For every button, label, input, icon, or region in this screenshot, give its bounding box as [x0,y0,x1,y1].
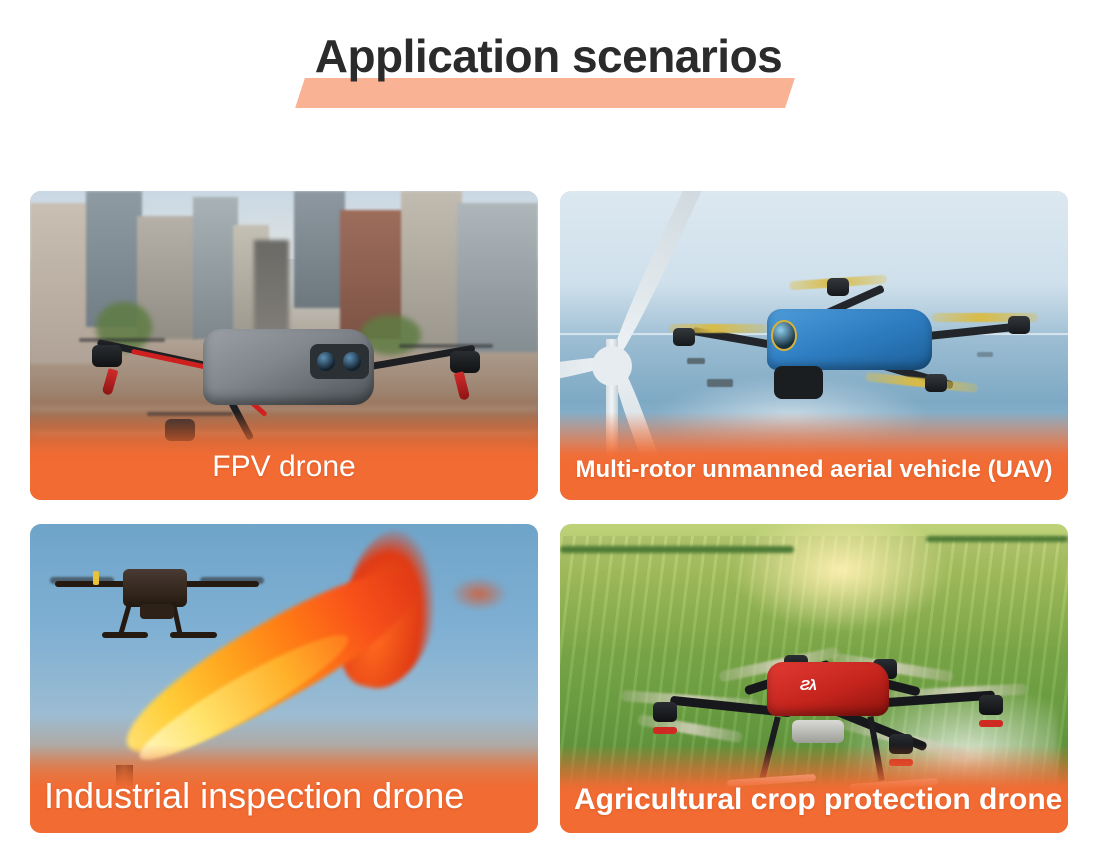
gimbal-camera [774,366,823,399]
scenario-card-industrial-inspection[interactable]: Industrial inspection drone [30,524,538,833]
gimbal-camera [140,604,174,619]
landing-leg [119,602,132,634]
page-header: Application scenarios [0,0,1097,160]
card-caption: Multi-rotor unmanned aerial vehicle (UAV… [560,412,1068,500]
camera-lens [771,320,797,351]
scenario-card-multirotor-uav[interactable]: Multi-rotor unmanned aerial vehicle (UAV… [560,191,1068,500]
motor [653,702,677,722]
motor-collar [979,720,1003,727]
turbine-hub [592,346,632,386]
motor [673,328,695,346]
landing-foot [101,368,118,396]
motor-collar [653,727,677,734]
scenario-card-fpv-drone[interactable]: FPV drone [30,191,538,500]
status-indicator [93,571,99,585]
field-hedge [560,546,794,553]
inspection-drone-object [50,546,263,651]
card-caption: Industrial inspection drone [30,745,538,833]
drone-arm [183,581,260,587]
landing-foot [454,372,470,402]
page-title: Application scenarios [0,28,1097,84]
scenario-card-grid: FPV drone [30,191,1068,833]
propeller-blur [399,344,493,348]
camera-lens [343,352,361,371]
drone-logo: Ƨλ [800,677,816,694]
camera-module [310,344,370,380]
detached-flame-puff [450,577,508,611]
motor [925,374,947,392]
scenario-card-agricultural-drone[interactable]: Ƨλ Agricultural crop protection drone [560,524,1068,833]
motor [450,351,480,373]
card-caption: Agricultural crop protection drone [560,745,1068,833]
card-caption: FPV drone [30,412,538,500]
motor [827,278,849,296]
camera-lens [317,352,335,371]
drone-body [123,569,187,607]
field-hedge [926,536,1068,542]
spray-tank [792,720,845,743]
motor [1008,316,1030,334]
propeller-blur [79,338,164,342]
motor [979,695,1003,715]
sun-glow [726,524,956,635]
drone-body [767,662,889,716]
motor [92,345,122,367]
landing-skid [170,632,217,638]
landing-skid [102,632,149,638]
